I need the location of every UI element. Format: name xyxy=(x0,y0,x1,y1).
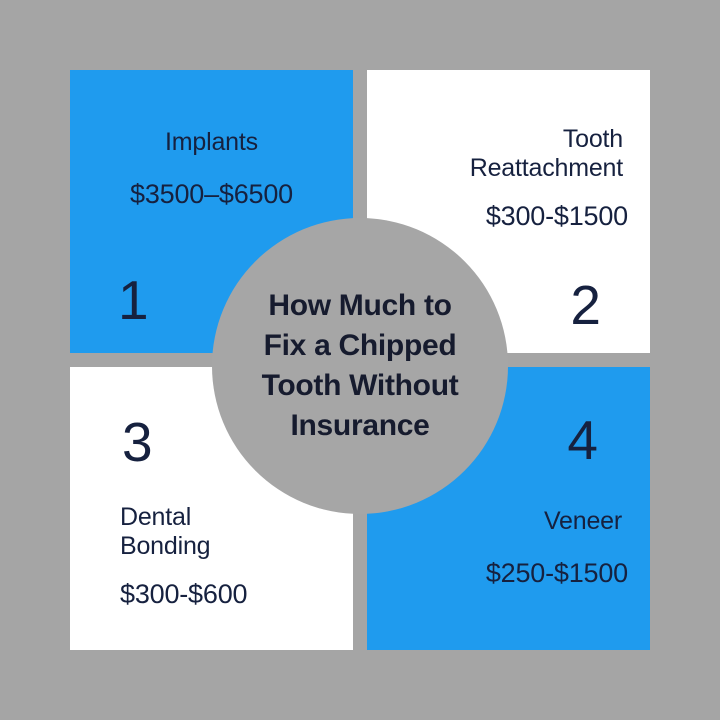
quadrant-number-4: 4 xyxy=(567,413,598,468)
center-circle: How Much to Fix a Chipped Tooth Without … xyxy=(212,218,508,514)
center-title: How Much to Fix a Chipped Tooth Without … xyxy=(235,286,485,446)
quadrant-price-implants: $3500–$6500 xyxy=(70,179,353,210)
quadrant-price-veneer: $250-$1500 xyxy=(367,558,628,589)
infographic-canvas: Implants $3500–$6500 1 Tooth Reattachmen… xyxy=(0,0,720,720)
quadrant-label-tooth-reattachment: Tooth Reattachment xyxy=(367,125,623,182)
quadrant-label-dental-bonding: Dental Bonding xyxy=(120,503,210,560)
quadrant-label-veneer: Veneer xyxy=(367,507,622,536)
quadrant-number-1: 1 xyxy=(118,273,149,328)
quadrant-price-dental-bonding: $300-$600 xyxy=(120,579,247,610)
quadrant-number-2: 2 xyxy=(570,278,601,333)
quadrant-label-implants: Implants xyxy=(70,128,353,157)
quadrant-number-3: 3 xyxy=(122,415,153,470)
